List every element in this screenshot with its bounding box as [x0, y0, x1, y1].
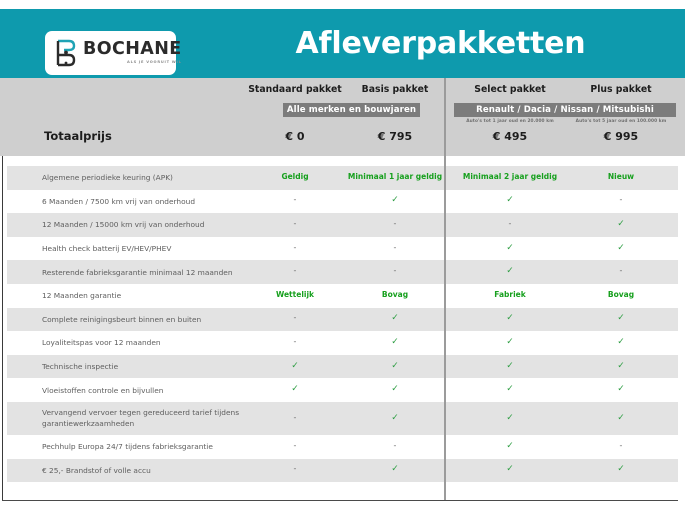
feature-value-cell: ✓	[566, 413, 676, 423]
logo-wordmark-text: BOCHANE	[83, 41, 182, 59]
feature-value-cell: ✓	[455, 337, 565, 347]
feature-label: € 25,- Brandstof of volle accu	[42, 465, 242, 476]
feature-value-cell: ✓	[340, 195, 450, 205]
feature-value-cell: -	[240, 337, 350, 346]
feature-value-cell: ✓	[566, 384, 676, 394]
feature-value-cell: Fabriek	[455, 290, 565, 299]
feature-value-cell: ✓	[566, 313, 676, 323]
column-sub-select: Auto's tot 1 jaar oud en 20.000 km	[455, 119, 565, 124]
feature-value-cell: -	[340, 266, 450, 275]
column-sub-plus: Auto's tot 5 jaar oud en 100.000 km	[566, 119, 676, 124]
table-top-divider	[0, 156, 685, 157]
column-title-standaard: Standaard pakket	[240, 84, 350, 95]
feature-value-cell: ✓	[455, 441, 565, 451]
feature-label: 12 Maanden / 15000 km vrij van onderhoud	[42, 219, 242, 230]
feature-label: 12 Maanden garantie	[42, 290, 242, 301]
feature-value-cell: ✓	[240, 361, 350, 371]
feature-label: Resterende fabrieksgarantie minimaal 12 …	[42, 267, 242, 278]
feature-value-cell: ✓	[340, 384, 450, 394]
header-banner: BOCHANE ALS JE VOORUIT WIL Afleverpakket…	[0, 9, 685, 78]
price-standaard: € 0	[240, 130, 350, 143]
column-title-plus: Plus pakket	[566, 84, 676, 95]
feature-value-cell: Bovag	[340, 290, 450, 299]
column-title-basis: Basis pakket	[340, 84, 450, 95]
table-row: € 25,- Brandstof of volle accu-✓✓✓	[7, 459, 678, 483]
feature-value-cell: ✓	[340, 413, 450, 423]
feature-value-cell: -	[455, 219, 565, 228]
feature-label: Pechhulp Europa 24/7 tijdens fabrieksgar…	[42, 441, 242, 452]
bochane-logo: BOCHANE ALS JE VOORUIT WIL	[45, 31, 176, 75]
feature-value-cell: -	[240, 243, 350, 252]
table-row: Technische inspectie✓✓✓✓	[7, 355, 678, 379]
feature-value-cell: -	[340, 243, 450, 252]
feature-label: Complete reinigingsbeurt binnen en buite…	[42, 314, 242, 325]
table-row: Resterende fabrieksgarantie minimaal 12 …	[7, 260, 678, 284]
feature-value-cell: Minimaal 2 jaar geldig	[455, 172, 565, 181]
feature-value-cell: ✓	[240, 384, 350, 394]
feature-label: Health check batterij EV/HEV/PHEV	[42, 243, 242, 254]
feature-label: Vloeistoffen controle en bijvullen	[42, 385, 242, 396]
feature-value-cell: -	[566, 195, 676, 204]
feature-value-cell: -	[566, 266, 676, 275]
feature-value-cell: ✓	[340, 361, 450, 371]
feature-value-cell: -	[240, 266, 350, 275]
feature-value-cell: ✓	[566, 219, 676, 229]
feature-label: Vervangend vervoer tegen gereduceerd tar…	[42, 407, 242, 429]
feature-value-cell: ✓	[455, 384, 565, 394]
feature-value-cell: -	[240, 219, 350, 228]
group-pill-alle-merken: Alle merken en bouwjaren	[283, 103, 420, 117]
feature-value-cell: Geldig	[240, 172, 350, 181]
logo-tagline: ALS JE VOORUIT WIL	[83, 61, 182, 65]
feature-value-cell: Minimaal 1 jaar geldig	[340, 172, 450, 181]
table-row: Vervangend vervoer tegen gereduceerd tar…	[7, 402, 678, 435]
feature-value-cell: Nieuw	[566, 172, 676, 181]
table-row: Health check batterij EV/HEV/PHEV--✓✓	[7, 237, 678, 261]
feature-value-cell: ✓	[455, 413, 565, 423]
group-pill-renault-dacia-nissan-mitsubishi: Renault / Dacia / Nissan / Mitsubishi	[454, 103, 676, 117]
feature-label: Loyaliteitspas voor 12 maanden	[42, 337, 242, 348]
table-row: 12 Maanden / 15000 km vrij van onderhoud…	[7, 213, 678, 237]
table-row: 12 Maanden garantieWettelijkBovagFabriek…	[7, 284, 678, 308]
feature-label: Algemene periodieke keuring (APK)	[42, 172, 242, 183]
feature-value-cell: ✓	[455, 243, 565, 253]
feature-value-cell: -	[240, 441, 350, 450]
feature-value-cell: ✓	[455, 464, 565, 474]
feature-value-cell: -	[240, 195, 350, 204]
feature-value-cell: ✓	[566, 361, 676, 371]
feature-value-cell: ✓	[455, 195, 565, 205]
table-row: Pechhulp Europa 24/7 tijdens fabrieksgar…	[7, 435, 678, 459]
feature-label: Technische inspectie	[42, 361, 242, 372]
package-group-divider	[444, 78, 446, 501]
feature-value-cell: -	[340, 441, 450, 450]
feature-value-cell: -	[566, 441, 676, 450]
feature-value-cell: ✓	[455, 266, 565, 276]
feature-value-cell: -	[240, 313, 350, 322]
table-bottom-rule	[2, 500, 678, 501]
feature-value-cell: Wettelijk	[240, 290, 350, 299]
total-price-row-label: Totaalprijs	[44, 129, 112, 143]
feature-value-cell: ✓	[340, 313, 450, 323]
feature-value-cell: ✓	[566, 243, 676, 253]
price-plus: € 995	[566, 130, 676, 143]
price-basis: € 795	[340, 130, 450, 143]
feature-value-cell: ✓	[340, 337, 450, 347]
table-left-rule	[2, 156, 3, 501]
feature-value-cell: -	[340, 219, 450, 228]
bochane-b-mark-icon	[54, 38, 80, 68]
feature-value-cell: ✓	[566, 337, 676, 347]
table-row: 6 Maanden / 7500 km vrij van onderhoud-✓…	[7, 190, 678, 214]
table-row: Complete reinigingsbeurt binnen en buite…	[7, 308, 678, 332]
feature-value-cell: Bovag	[566, 290, 676, 299]
column-title-select: Select pakket	[455, 84, 565, 95]
feature-value-cell: ✓	[455, 313, 565, 323]
table-row: Algemene periodieke keuring (APK)GeldigM…	[7, 166, 678, 190]
feature-value-cell: -	[240, 413, 350, 422]
table-row: Vloeistoffen controle en bijvullen✓✓✓✓	[7, 378, 678, 402]
table-row: Loyaliteitspas voor 12 maanden-✓✓✓	[7, 331, 678, 355]
feature-value-cell: ✓	[566, 464, 676, 474]
feature-value-cell: ✓	[455, 361, 565, 371]
feature-value-cell: ✓	[340, 464, 450, 474]
page-title: Afleverpakketten	[196, 9, 685, 78]
feature-value-cell: -	[240, 464, 350, 473]
feature-label: 6 Maanden / 7500 km vrij van onderhoud	[42, 196, 242, 207]
delivery-packages-sheet: BOCHANE ALS JE VOORUIT WIL Afleverpakket…	[0, 0, 685, 514]
price-select: € 495	[455, 130, 565, 143]
